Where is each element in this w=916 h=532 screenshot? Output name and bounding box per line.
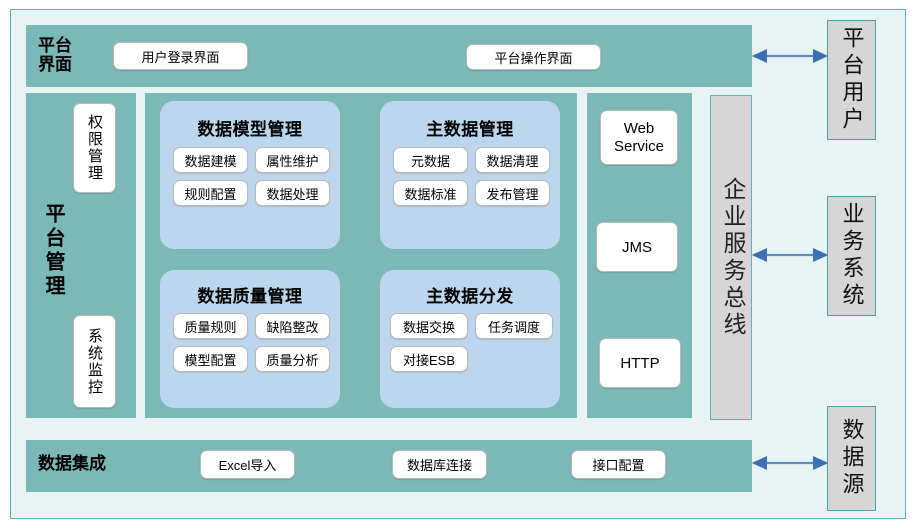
- chip-quality-analysis[interactable]: 质量分析: [255, 346, 330, 372]
- chip-model-configuration[interactable]: 模型配置: [173, 346, 248, 372]
- chip-excel-import[interactable]: Excel导入: [200, 450, 295, 479]
- chip-system-monitoring[interactable]: 系统监控: [73, 315, 116, 408]
- architecture-diagram: 平台 界面 用户登录界面 平台操作界面 权限管理 平台管理 系统监控 数据模型管…: [0, 0, 916, 532]
- chip-platform-operation-ui[interactable]: 平台操作界面: [466, 44, 601, 70]
- chip-web-service-line1: Web: [624, 120, 655, 137]
- chip-publish-management[interactable]: 发布管理: [475, 180, 550, 206]
- group-data-quality-management: 数据质量管理 质量规则 缺陷整改 模型配置 质量分析: [160, 270, 340, 408]
- group-title-data-model-management: 数据模型管理: [160, 115, 340, 140]
- platform-management-label: 平台管理: [40, 196, 68, 306]
- chip-defect-rectification[interactable]: 缺陷整改: [255, 313, 330, 339]
- chip-data-processing[interactable]: 数据处理: [255, 180, 330, 206]
- chip-data-exchange[interactable]: 数据交换: [390, 313, 468, 339]
- chip-quality-rules[interactable]: 质量规则: [173, 313, 248, 339]
- chip-permission-management[interactable]: 权限管理: [73, 103, 116, 193]
- chip-web-service-line2: Service: [614, 138, 664, 155]
- external-business-systems-label: 业务系统: [836, 202, 868, 310]
- platform-interface-label-line1: 平台: [38, 36, 98, 55]
- chip-metadata[interactable]: 元数据: [393, 147, 468, 173]
- enterprise-service-bus: 企业服务总线: [710, 95, 752, 420]
- group-master-data-management: 主数据管理 元数据 数据清理 数据标准 发布管理: [380, 101, 560, 249]
- chip-data-modeling[interactable]: 数据建模: [173, 147, 248, 173]
- group-title-data-quality-management: 数据质量管理: [160, 282, 340, 307]
- chip-task-scheduling[interactable]: 任务调度: [475, 313, 553, 339]
- arrow-data-integration-to-data-sources: [748, 452, 832, 476]
- chip-http[interactable]: HTTP: [599, 338, 681, 388]
- group-title-master-data-management: 主数据管理: [380, 115, 560, 140]
- enterprise-service-bus-label: 企业服务总线: [711, 96, 751, 419]
- chip-esb-integration[interactable]: 对接ESB: [390, 346, 468, 372]
- group-title-master-data-distribution: 主数据分发: [380, 282, 560, 307]
- arrow-platform-interface-to-users: [748, 45, 832, 69]
- platform-interface-label-line2: 界面: [38, 55, 98, 74]
- external-platform-users-label: 平台用户: [836, 26, 868, 134]
- chip-web-service[interactable]: Web Service: [600, 110, 678, 165]
- data-integration-label: 数据集成: [38, 454, 106, 473]
- arrow-service-bus-to-business-systems: [748, 244, 832, 268]
- group-master-data-distribution: 主数据分发 数据交换 任务调度 对接ESB: [380, 270, 560, 408]
- chip-data-cleansing[interactable]: 数据清理: [475, 147, 550, 173]
- chip-user-login-ui[interactable]: 用户登录界面: [113, 42, 248, 70]
- chip-data-standard[interactable]: 数据标准: [393, 180, 468, 206]
- external-data-sources: 数据源: [827, 406, 876, 511]
- group-data-model-management: 数据模型管理 数据建模 属性维护 规则配置 数据处理: [160, 101, 340, 249]
- chip-interface-configuration[interactable]: 接口配置: [571, 450, 666, 479]
- external-data-sources-label: 数据源: [836, 418, 868, 499]
- external-business-systems: 业务系统: [827, 196, 876, 316]
- chip-attribute-maintenance[interactable]: 属性维护: [255, 147, 330, 173]
- platform-interface-label: 平台 界面: [38, 36, 98, 74]
- external-platform-users: 平台用户: [827, 20, 876, 140]
- chip-rule-configuration[interactable]: 规则配置: [173, 180, 248, 206]
- chip-jms[interactable]: JMS: [596, 222, 678, 272]
- chip-database-connection[interactable]: 数据库连接: [392, 450, 487, 479]
